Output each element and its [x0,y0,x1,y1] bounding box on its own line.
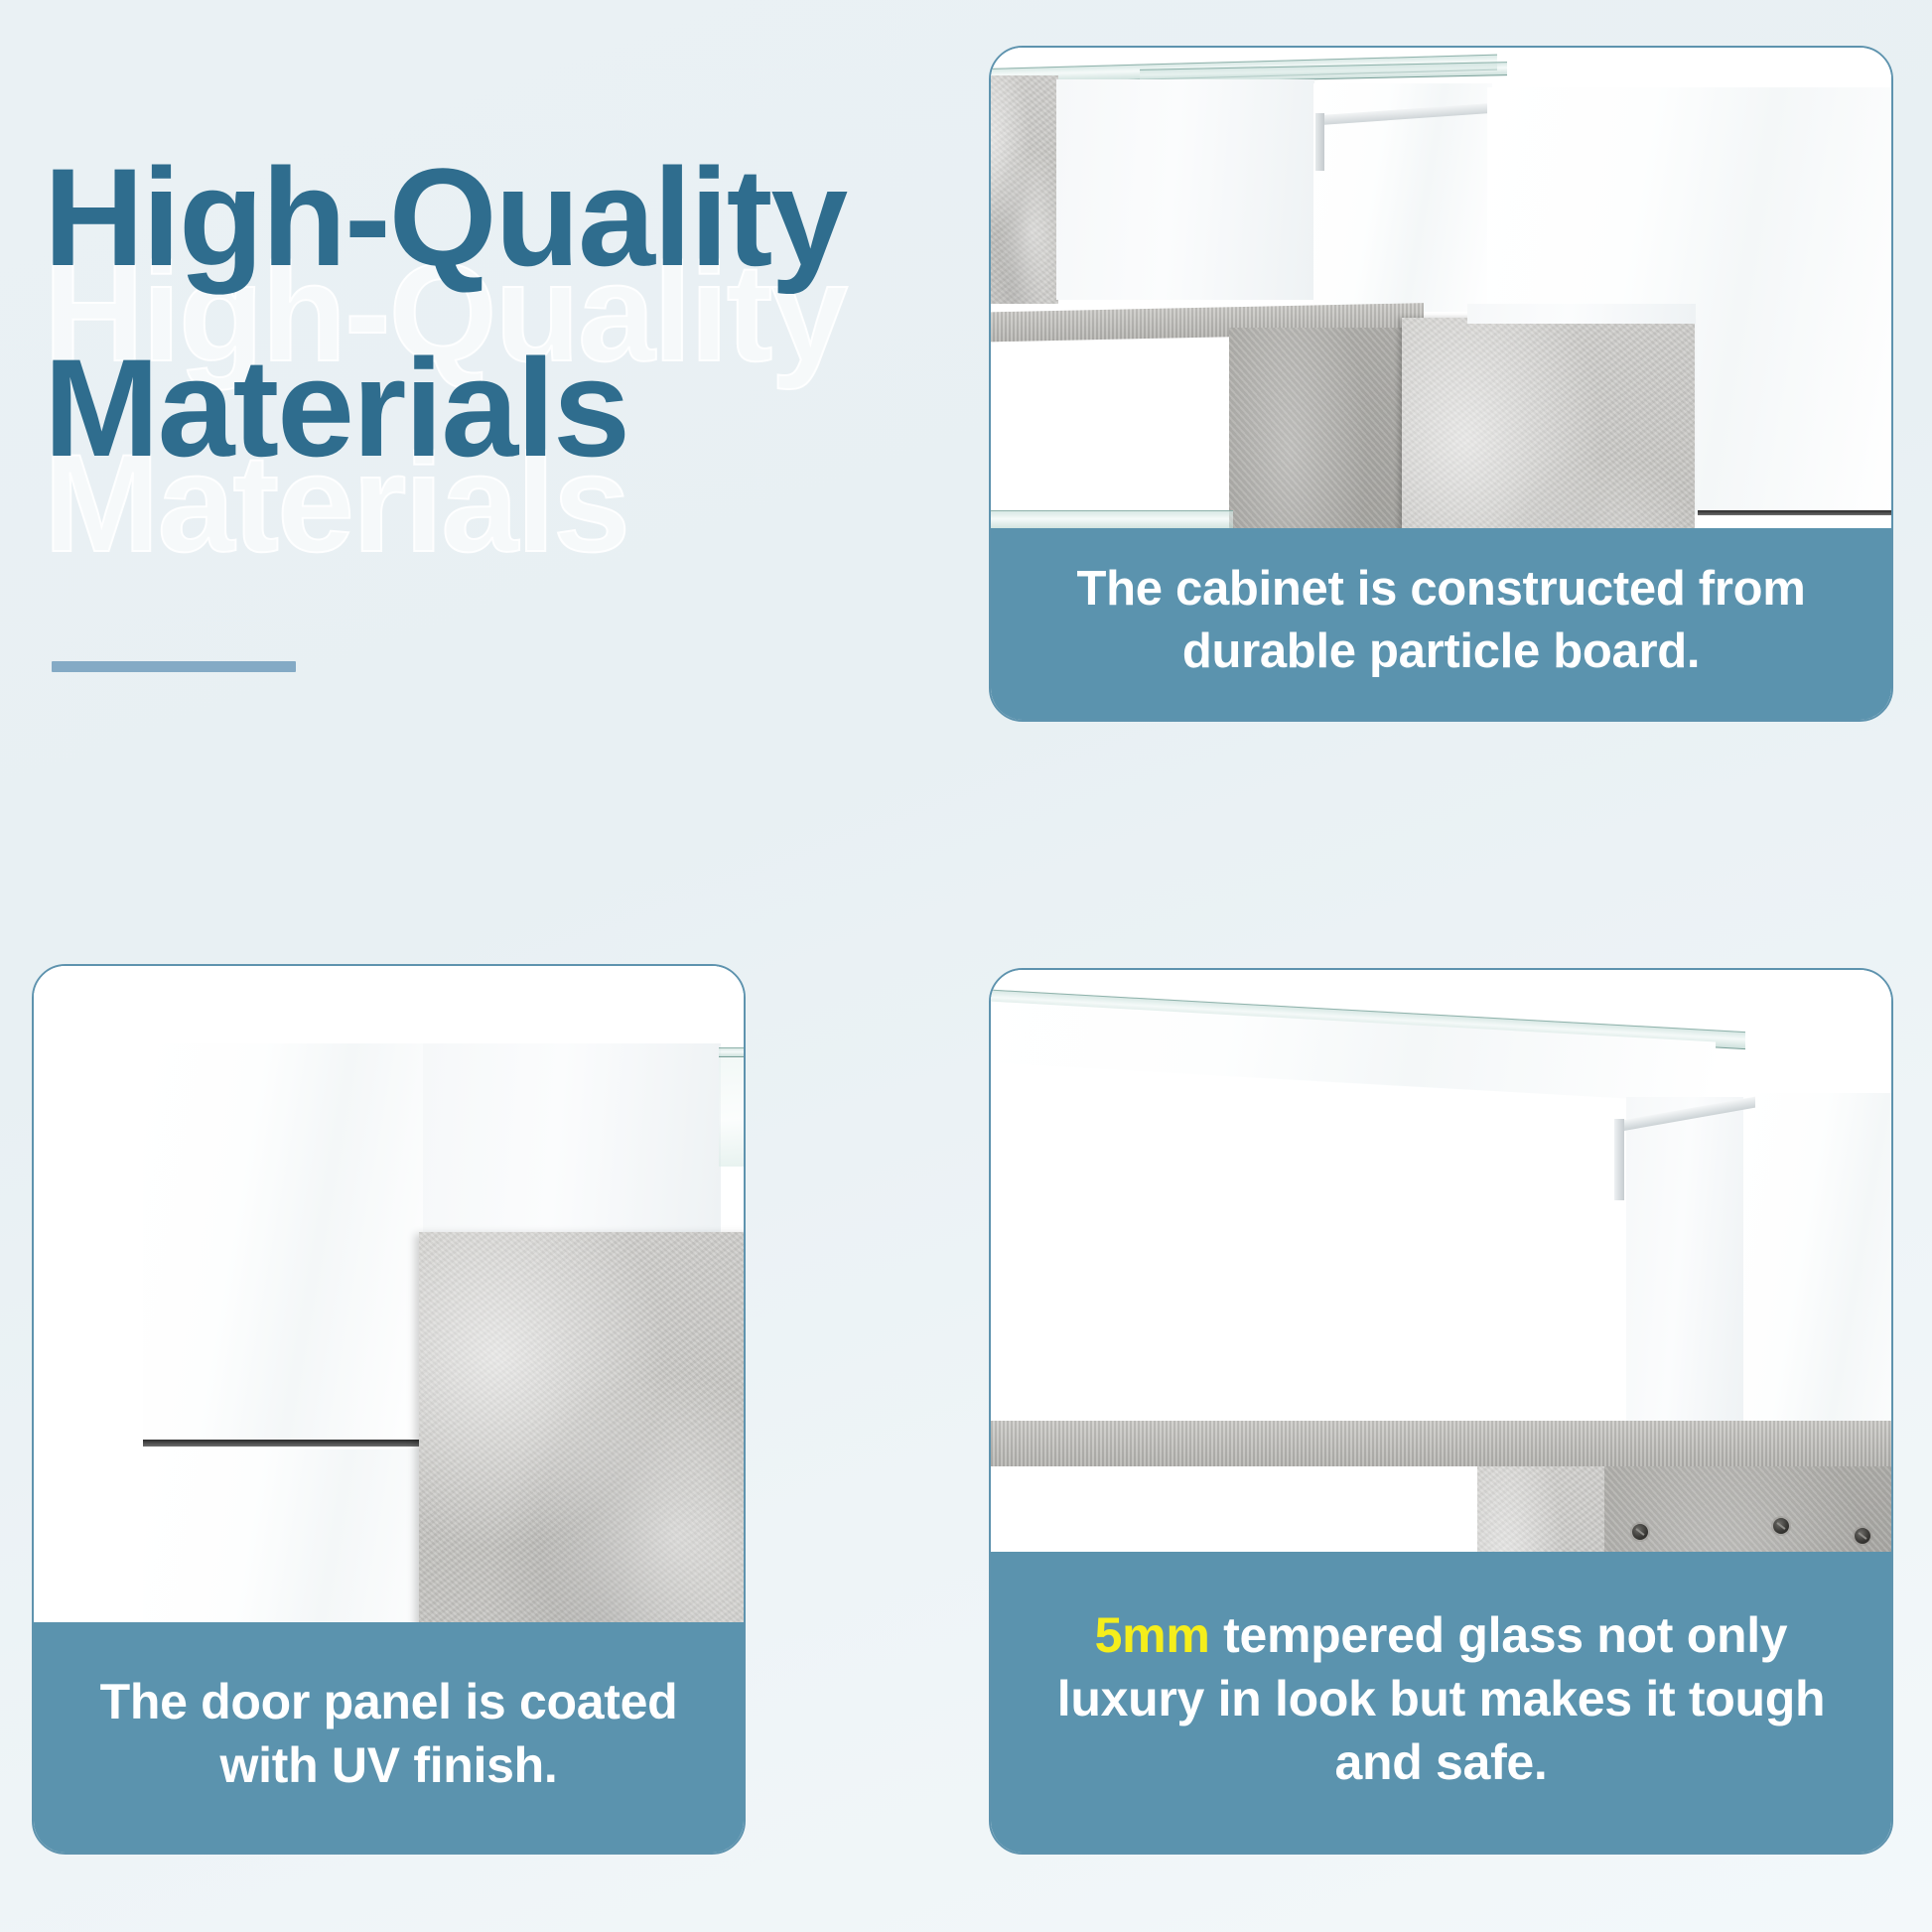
title-text-line-2: Materials [44,340,628,476]
glass-shelf-middle [991,510,1233,528]
page-title: High-Quality High-Quality Materials Mate… [44,149,957,518]
screw-icon [1773,1518,1789,1534]
shelf-grey-edge [991,1421,1891,1466]
panel-white-upright-right [1626,1097,1745,1441]
door-gap-line [143,1440,423,1447]
feature-card-uv-finish: The door panel is coated with UV finish. [32,964,746,1855]
glass-panel-right [719,1057,744,1167]
panel-grey-divider [1477,1466,1606,1552]
product-photo-door-panel [34,966,744,1622]
panel-grey-cube-front [1402,318,1695,528]
panel-white-rear-upper [1056,79,1314,300]
furniture-illustration [991,970,1891,1552]
furniture-illustration [991,48,1891,528]
title-underline-rule [52,661,296,672]
door-gap-line-right [1698,510,1891,515]
panel-white-behind-cube [1467,304,1696,324]
screw-icon [1855,1528,1870,1544]
panel-grey-upright-left [991,75,1058,304]
panel-white-back-right [1743,1093,1891,1447]
caption-tempered-glass: 5mm tempered glass not only luxury in lo… [991,1552,1891,1853]
feature-card-tempered-glass: 5mm tempered glass not only luxury in lo… [989,968,1893,1855]
page-title-block: High-Quality High-Quality Materials Mate… [44,149,957,518]
panel-white-door-lower [143,1449,423,1622]
title-text-line-1: High-Quality [44,149,846,285]
caption-text-uv-finish: The door panel is coated with UV finish. [73,1670,704,1797]
caption-highlight-5mm: 5mm [1095,1607,1210,1663]
product-photo-tempered-glass [991,970,1891,1552]
panel-grey-cube-inner [1229,328,1403,528]
caption-uv-finish: The door panel is coated with UV finish. [34,1622,744,1853]
panel-grey-front [419,1232,744,1622]
caption-text-particle-board: The cabinet is constructed from durable … [1031,558,1852,682]
title-line-1: High-Quality High-Quality [44,149,957,328]
screw-icon [1632,1524,1648,1540]
feature-card-particle-board: The cabinet is constructed from durable … [989,46,1893,722]
furniture-illustration [34,966,744,1622]
panel-white-door-upper [143,1043,423,1441]
caption-text-tempered-glass: 5mm tempered glass not only luxury in lo… [1031,1603,1852,1794]
metal-rail-bracket-vertical [1614,1119,1624,1200]
product-photo-cabinet-construction [991,48,1891,528]
panel-white-body-right [423,1043,721,1238]
metal-rail-bracket-vertical [1315,113,1324,171]
caption-particle-board: The cabinet is constructed from durable … [991,528,1891,720]
glass-shelf-top-right [719,1047,744,1057]
panel-grey-interior-back [1604,1466,1891,1552]
